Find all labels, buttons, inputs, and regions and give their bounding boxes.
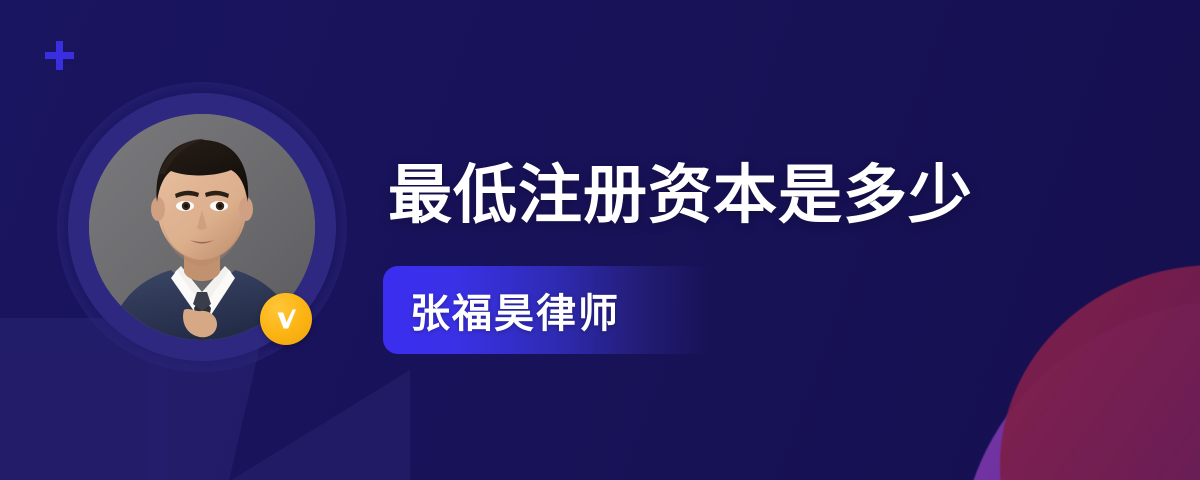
page-title: 最低注册资本是多少: [388, 156, 973, 234]
verified-v-icon: [260, 293, 312, 345]
promo-banner: 最低注册资本是多少 张福昊律师: [0, 0, 1200, 480]
lawyer-name-badge[interactable]: 张福昊律师: [383, 266, 711, 354]
lawyer-name-label: 张福昊律师: [383, 281, 620, 339]
avatar: [57, 82, 347, 387]
plus-icon: [45, 41, 74, 70]
